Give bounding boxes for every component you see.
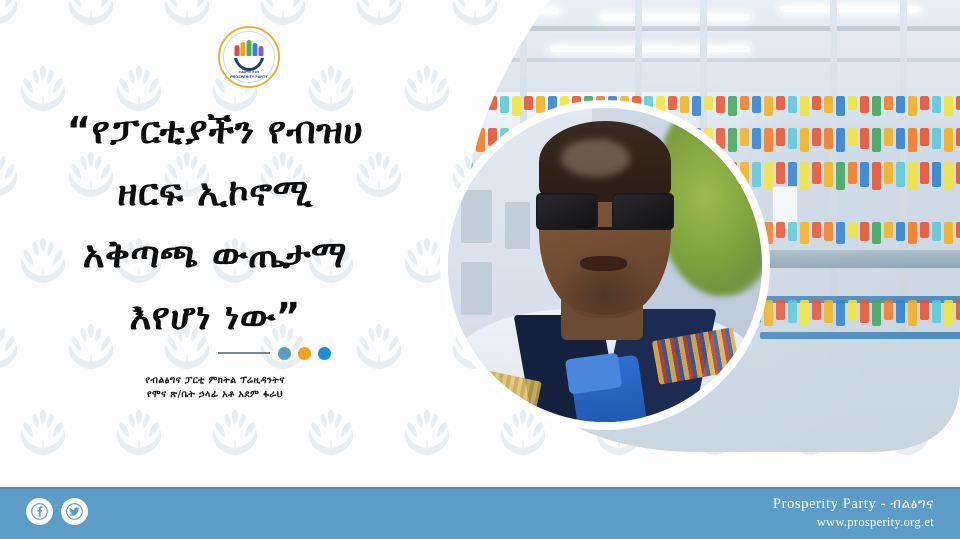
divider-dot <box>318 347 331 360</box>
forehead-highlight <box>561 139 630 177</box>
lens-right <box>612 193 674 231</box>
logo-caption: ብልጽግና ፓርቲ PROSPERITY PARTY <box>220 70 278 79</box>
quote-line-3: አቅጣጫ ውጤታማ <box>0 224 430 286</box>
mouth <box>580 256 627 272</box>
figure <box>241 42 246 56</box>
lens-left <box>536 193 598 231</box>
watermark-motif <box>204 400 266 462</box>
quote-line-2: ዘርፍ ኢኮኖሚ <box>0 162 430 224</box>
figure <box>235 45 240 56</box>
facebook-icon[interactable] <box>26 498 53 525</box>
portrait-circle <box>440 100 770 430</box>
footer-top-border <box>0 487 960 489</box>
quote-text: “የፓርቲያችን የብዝሀ ዘርፍ ኢኮኖሚ አቅጣጫ ውጤታማ እየሆነ ነው… <box>0 100 430 348</box>
divider-line <box>218 352 270 354</box>
sunglasses-icon <box>536 193 674 231</box>
divider-dot <box>298 347 311 360</box>
watermark-motif <box>108 400 170 462</box>
attribution: የብልፅግና ፓርቲ ምክትል ፕሬዚዳንትና የሞና ጽ/ቤት ኃላፊ አቶ … <box>0 374 430 402</box>
logo-people-figures <box>235 40 264 56</box>
attribution-line-1: የብልፅግና ፓርቲ ምክትል ፕሬዚዳንትና <box>0 374 430 388</box>
quote-line-1: “የፓርቲያችን የብዝሀ <box>0 100 430 162</box>
watermark-motif <box>0 0 26 32</box>
brand-name-en: Prosperity Party - <box>773 496 890 512</box>
divider-dot <box>278 347 291 360</box>
figure <box>259 46 264 56</box>
divider-dots <box>218 345 338 361</box>
poster-canvas: ብልጽግና ፓርቲ PROSPERITY PARTY “የፓርቲያችን የብዝሀ… <box>0 0 960 539</box>
attribution-line-2: የሞና ጽ/ቤት ኃላፊ አቶ አደም ፋራህ <box>0 388 430 402</box>
footer-bar: Prosperity Party - ብልፅግና www.prosperity.… <box>0 487 960 539</box>
glasses-bridge <box>589 227 620 230</box>
twitter-icon[interactable] <box>61 498 88 525</box>
brand-name-am: ብልፅግና <box>890 496 934 512</box>
figure <box>253 43 258 56</box>
portrait-photo <box>448 108 762 422</box>
window <box>461 262 492 315</box>
photo-panel <box>400 0 960 452</box>
watermark-motif <box>60 0 122 32</box>
quote-line-4: እየሆነ ነው” <box>0 286 430 348</box>
party-logo-inner: ብልጽግና ፓርቲ PROSPERITY PARTY <box>220 28 278 86</box>
figure <box>247 40 252 56</box>
watermark-motif <box>156 0 218 32</box>
brand-name: Prosperity Party - ብልፅግና <box>773 495 934 514</box>
watermark-motif <box>300 400 362 462</box>
window <box>461 190 492 243</box>
brand-website: www.prosperity.org.et <box>773 514 934 531</box>
window <box>505 202 530 249</box>
footer-brand: Prosperity Party - ብልፅግና www.prosperity.… <box>773 495 934 531</box>
watermark-motif <box>12 400 74 462</box>
social-links <box>26 498 88 525</box>
party-logo: ብልጽግና ፓርቲ PROSPERITY PARTY <box>218 26 280 88</box>
